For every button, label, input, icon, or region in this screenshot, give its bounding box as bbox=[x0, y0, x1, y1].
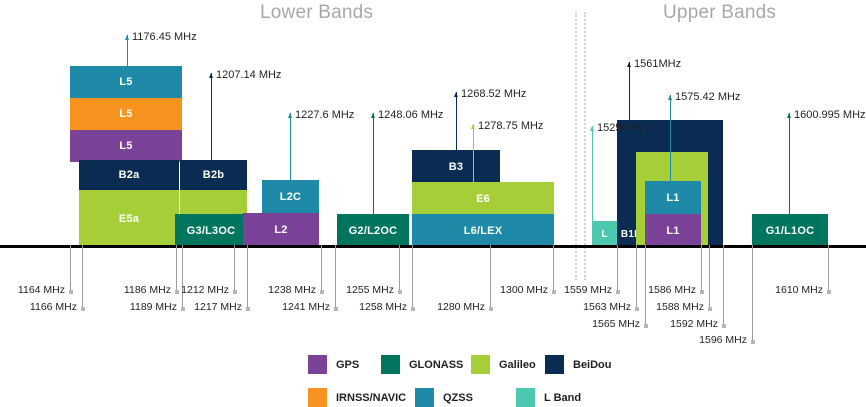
tick-label: 1241 MHz bbox=[282, 301, 335, 313]
tick-label: 1164 MHz bbox=[18, 284, 70, 296]
callout-stem bbox=[373, 113, 374, 214]
tick-label: 1258 MHz bbox=[359, 301, 412, 313]
callout-stem bbox=[473, 124, 474, 182]
legend-color-swatch bbox=[471, 355, 490, 374]
tick-line bbox=[399, 245, 400, 292]
tick-label: 1610 MHz bbox=[775, 284, 828, 296]
callout-stem bbox=[211, 73, 212, 160]
callout-stem bbox=[290, 113, 291, 180]
band-label: L2C bbox=[280, 191, 301, 203]
tick-label: 1186 MHz bbox=[124, 284, 176, 296]
band-g2-glonass[interactable]: G2/L2OC bbox=[337, 214, 409, 247]
band-b2b-beidou[interactable]: B2b bbox=[180, 160, 247, 190]
legend-gps[interactable]: GPS bbox=[308, 355, 359, 374]
legend-label: Galileo bbox=[499, 359, 536, 371]
tick-line bbox=[553, 245, 554, 292]
band-g1-glonass[interactable]: G1/L1OC bbox=[752, 214, 828, 247]
callout-stem bbox=[456, 92, 457, 150]
arrow-up-icon bbox=[590, 126, 594, 131]
arrow-up-icon bbox=[471, 124, 475, 129]
callout-label: 1248.06 MHz bbox=[378, 109, 443, 121]
callout-stem bbox=[670, 95, 671, 181]
tick-label: 1596 MHz bbox=[699, 334, 752, 346]
band-l2-gps[interactable]: L2 bbox=[243, 213, 319, 247]
band-label: L6/LEX bbox=[464, 225, 503, 237]
callout-label: 1600.995 MHz bbox=[794, 109, 866, 121]
callout-label: 1227.6 MHz bbox=[295, 109, 354, 121]
tick-line bbox=[645, 245, 646, 326]
arrow-up-icon bbox=[371, 113, 375, 118]
tick-label: 1255 MHz bbox=[346, 284, 399, 296]
tick-label: 1238 MHz bbox=[268, 284, 321, 296]
tick-label: 1217 MHz bbox=[194, 301, 247, 313]
callout-label: 1268.52 MHz bbox=[461, 88, 526, 100]
arrow-up-icon bbox=[787, 113, 791, 118]
band-l5-gps[interactable]: L5 bbox=[70, 130, 182, 162]
band-l1-qzss[interactable]: L1 bbox=[645, 181, 701, 215]
tick-line bbox=[709, 245, 710, 309]
band-e5a-galileo[interactable]: E5a bbox=[79, 190, 179, 247]
tick-label: 1212 MHz bbox=[181, 284, 234, 296]
tick-label: 1280 MHz bbox=[437, 301, 490, 313]
tick-label: 1189 MHz bbox=[130, 301, 182, 313]
section-title-lower-bands: Lower Bands bbox=[260, 2, 373, 24]
tick-line bbox=[321, 245, 322, 292]
legend-label: L Band bbox=[544, 392, 581, 404]
band-label: G3/L3OC bbox=[187, 225, 235, 237]
band-label: B1I bbox=[621, 229, 637, 240]
legend-color-swatch bbox=[308, 388, 327, 407]
legend-lband[interactable]: L Band bbox=[516, 388, 581, 407]
arrow-up-icon bbox=[668, 95, 672, 100]
tick-line bbox=[752, 245, 753, 342]
callout-label: 1176.45 MHz bbox=[132, 31, 197, 43]
tick-line bbox=[723, 245, 724, 326]
tick-line bbox=[636, 245, 637, 309]
tick-label: 1559 MHz bbox=[564, 284, 617, 296]
arrow-up-icon bbox=[454, 92, 458, 97]
band-label: G1/L1OC bbox=[766, 225, 814, 237]
tick-label: 1565 MHz bbox=[592, 318, 645, 330]
tick-line bbox=[617, 245, 618, 292]
callout-label: 1525MHz bbox=[597, 122, 644, 134]
legend-label: GLONASS bbox=[409, 359, 463, 371]
tick-line bbox=[490, 245, 491, 309]
callout-stem bbox=[592, 126, 593, 221]
frequency-axis-baseline bbox=[0, 245, 866, 248]
tick-line bbox=[176, 245, 177, 292]
legend-label: QZSS bbox=[443, 392, 473, 404]
tick-line bbox=[701, 245, 702, 292]
band-label: L5 bbox=[119, 76, 132, 88]
tick-label: 1300 MHz bbox=[500, 284, 553, 296]
callout-label: 1278.75 MHz bbox=[478, 120, 543, 132]
band-label: L2 bbox=[274, 224, 287, 236]
tick-line bbox=[234, 245, 235, 292]
band-l2c-qzss[interactable]: L2C bbox=[262, 180, 319, 213]
legend-beidou[interactable]: BeiDou bbox=[545, 355, 612, 374]
band-label: L5 bbox=[119, 140, 132, 152]
gnss-frequency-band-chart: Lower Bands Upper Bands L5L5L5B2aB2bE5aE… bbox=[0, 0, 866, 406]
callout-label: 1207.14 MHz bbox=[216, 69, 281, 81]
band-l-band[interactable]: L bbox=[592, 221, 617, 247]
tick-line bbox=[182, 245, 183, 309]
band-label: L1 bbox=[666, 192, 679, 204]
legend-color-swatch bbox=[381, 355, 400, 374]
band-label: L1 bbox=[666, 225, 679, 237]
band-label: B2b bbox=[203, 169, 224, 181]
legend-label: GPS bbox=[336, 359, 359, 371]
legend-qzss[interactable]: QZSS bbox=[415, 388, 473, 407]
legend-galileo[interactable]: Galileo bbox=[471, 355, 536, 374]
tick-label: 1592 MHz bbox=[670, 318, 723, 330]
band-l1-gps[interactable]: L1 bbox=[645, 214, 701, 247]
legend: GPSGLONASSGalileoBeiDouIRNSS/NAVICQZSSL … bbox=[0, 352, 866, 406]
tick-line bbox=[335, 245, 336, 309]
tick-line bbox=[70, 245, 71, 292]
band-label: L5 bbox=[119, 108, 132, 120]
tick-label: 1166 MHz bbox=[30, 301, 82, 313]
legend-glonass[interactable]: GLONASS bbox=[381, 355, 463, 374]
legend-color-swatch bbox=[415, 388, 434, 407]
band-label: L bbox=[601, 229, 607, 240]
band-label: E5a bbox=[119, 213, 139, 225]
tick-line bbox=[412, 245, 413, 309]
band-g3-glonass[interactable]: G3/L3OC bbox=[175, 214, 247, 247]
legend-color-swatch bbox=[545, 355, 564, 374]
band-b3-beidou[interactable]: B3 bbox=[412, 150, 500, 184]
tick-line bbox=[247, 245, 248, 309]
band-label: B2a bbox=[119, 169, 140, 181]
legend-label: BeiDou bbox=[573, 359, 612, 371]
tick-label: 1586 MHz bbox=[648, 284, 701, 296]
legend-color-swatch bbox=[516, 388, 535, 407]
legend-irnss[interactable]: IRNSS/NAVIC bbox=[308, 388, 406, 407]
band-b2a-beidou[interactable]: B2a bbox=[79, 160, 179, 190]
callout-stem bbox=[629, 62, 630, 221]
band-e6-galileo[interactable]: E6 bbox=[412, 182, 554, 215]
callout-label: 1561MHz bbox=[634, 58, 681, 70]
band-label: G2/L2OC bbox=[349, 225, 397, 237]
arrow-up-icon bbox=[209, 73, 213, 78]
band-label: E6 bbox=[476, 193, 490, 205]
band-l6-qzss[interactable]: L6/LEX bbox=[412, 214, 554, 247]
band-l5-qzss[interactable]: L5 bbox=[70, 66, 182, 98]
section-title-upper-bands: Upper Bands bbox=[663, 2, 776, 24]
tick-line bbox=[828, 245, 829, 292]
band-l5-irnss[interactable]: L5 bbox=[70, 98, 182, 130]
arrow-up-icon bbox=[627, 62, 631, 67]
band-label: B3 bbox=[449, 161, 463, 173]
callout-stem bbox=[789, 113, 790, 214]
arrow-up-icon bbox=[125, 35, 129, 40]
tick-line bbox=[82, 245, 83, 309]
callout-label: 1575.42 MHz bbox=[675, 91, 740, 103]
tick-label: 1563 MHz bbox=[583, 301, 636, 313]
arrow-up-icon bbox=[288, 113, 292, 118]
legend-color-swatch bbox=[308, 355, 327, 374]
legend-label: IRNSS/NAVIC bbox=[336, 392, 406, 404]
section-divider-left bbox=[575, 12, 577, 280]
section-divider-right bbox=[584, 12, 586, 280]
tick-label: 1588 MHz bbox=[656, 301, 709, 313]
